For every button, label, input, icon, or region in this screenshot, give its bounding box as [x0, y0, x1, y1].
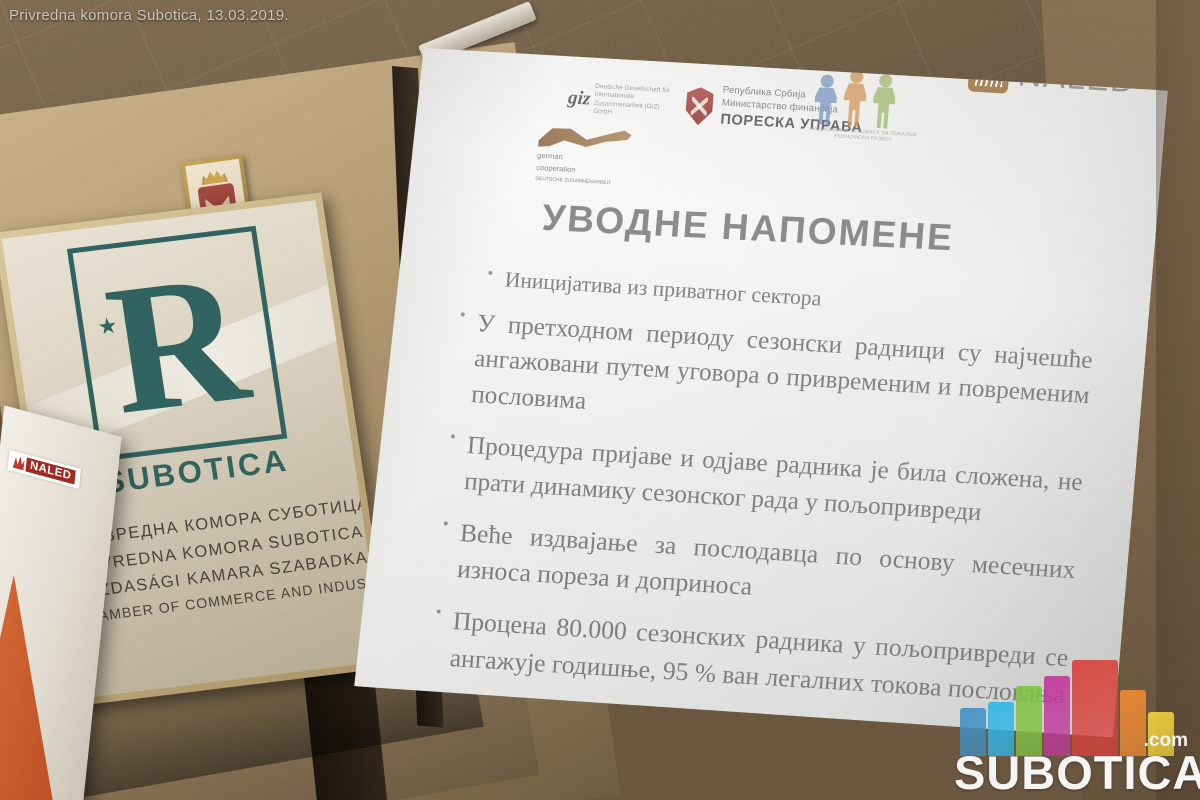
giz-logo: german cooperation DEUTSCHE ZUSAMMENARBE…: [535, 122, 660, 189]
projection-screen: german cooperation DEUTSCHE ZUSAMMENARBE…: [352, 26, 1168, 751]
giz-wave-icon: [538, 122, 632, 154]
people-logo: НАЦИОНАЛНА АЛИЈАНСА ЗА ЛОКАЛНИ ЕКОНОМСКИ…: [809, 68, 923, 145]
naled-mark-icon: [13, 455, 25, 471]
watermark-buildings-icon: [960, 660, 1174, 756]
person-orange-icon: [839, 70, 872, 128]
naled-banner-wordmark: NALED: [25, 457, 75, 484]
people-icon-row: [810, 68, 923, 131]
watermark-bar: [1072, 660, 1118, 756]
subotica-watermark: .com SUBOTICA: [946, 656, 1194, 796]
watermark-text: SUBOTICA: [954, 745, 1200, 800]
giz-subtext: Deutsche Gesellschaft für Internationale…: [593, 83, 674, 121]
photo-caption: Privredna komora Subotica, 13.03.2019.: [9, 7, 289, 24]
chamber-logo-letter: R: [97, 244, 257, 443]
giz-wordmark: giz: [567, 87, 591, 110]
photo-scene: ★ R SUBOTICA ПРИВРЕДНА КОМОРА СУБОТИЦА P…: [0, 0, 1200, 800]
serbia-arms-icon: [683, 86, 716, 126]
person-green-icon: [868, 73, 900, 129]
chamber-logo-box: ★ R: [67, 226, 287, 462]
naled-banner-logo: NALED: [8, 450, 82, 489]
person-blue-icon: [810, 74, 842, 126]
slide-bullet-2: У претходном периоду сезонски радници су…: [450, 304, 1094, 449]
watermark-bar: [1044, 676, 1070, 756]
slide-content: german cooperation DEUTSCHE ZUSAMMENARBE…: [352, 35, 1167, 741]
crown-icon: [200, 168, 228, 185]
